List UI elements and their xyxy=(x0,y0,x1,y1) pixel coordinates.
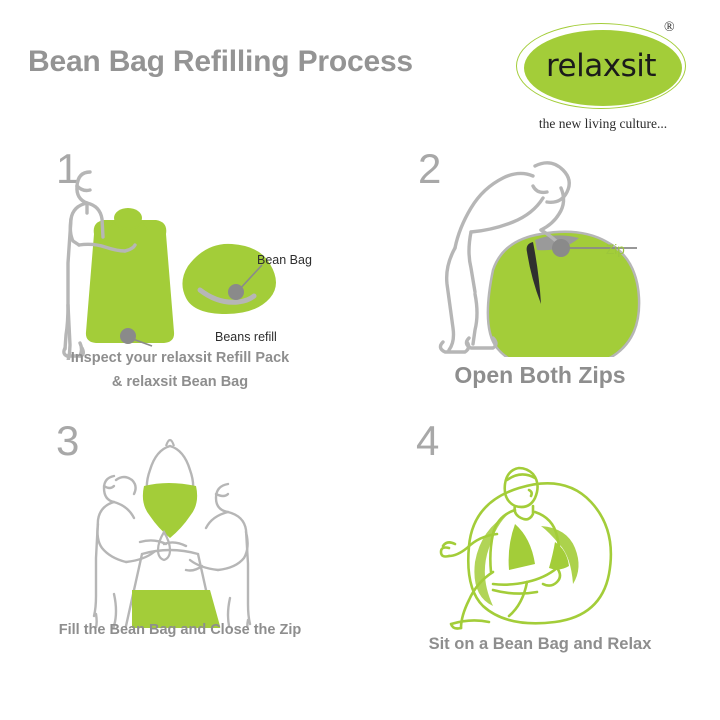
label-bean-bag: Bean Bag xyxy=(257,253,312,267)
step-3-number: 3 xyxy=(56,420,79,462)
person-green-outline xyxy=(441,468,560,629)
bean-bag-leader-dot xyxy=(228,284,244,300)
refill-pack-fill xyxy=(143,483,197,538)
step-3: 3 xyxy=(0,410,360,670)
step-2: 2 Zip xyxy=(360,140,720,400)
refill-pack-shape xyxy=(86,220,174,343)
infographic-page: Bean Bag Refilling Process relaxsit ® th… xyxy=(0,0,720,720)
step-1-caption-line-2: & relaxsit Bean Bag xyxy=(0,372,360,394)
logo-tagline: the new living culture... xyxy=(508,116,698,132)
step-3-caption: Fill the Bean Bag and Close the Zip xyxy=(0,620,360,642)
page-title: Bean Bag Refilling Process xyxy=(28,45,413,79)
header: Bean Bag Refilling Process relaxsit ® th… xyxy=(0,0,720,140)
step-2-illustration xyxy=(415,152,715,357)
label-beans-refill: Beans refill xyxy=(215,330,277,344)
step-1-illustration xyxy=(60,150,360,360)
refill-pack-top xyxy=(114,208,142,228)
step-2-caption: Open Both Zips xyxy=(360,358,720,393)
beans-refill-leader-dot xyxy=(120,328,136,344)
zip-leader-dot xyxy=(552,239,570,257)
step-4-caption: Sit on a Bean Bag and Relax xyxy=(360,632,720,657)
hands-group xyxy=(140,540,186,546)
step-4-illustration xyxy=(415,450,665,630)
registered-trademark-icon: ® xyxy=(664,20,675,36)
step-1: 1 xyxy=(0,140,360,400)
torso-shade xyxy=(509,524,535,570)
step-3-illustration xyxy=(80,428,320,628)
step-4: 4 xyxy=(360,410,720,670)
step-1-caption-line-1: Inspect your relaxsit Refill Pack xyxy=(0,348,360,370)
label-zip: Zip xyxy=(606,242,625,257)
logo-wordmark: relaxsit xyxy=(522,28,680,104)
brand-logo: relaxsit ® the new living culture... xyxy=(508,16,698,128)
